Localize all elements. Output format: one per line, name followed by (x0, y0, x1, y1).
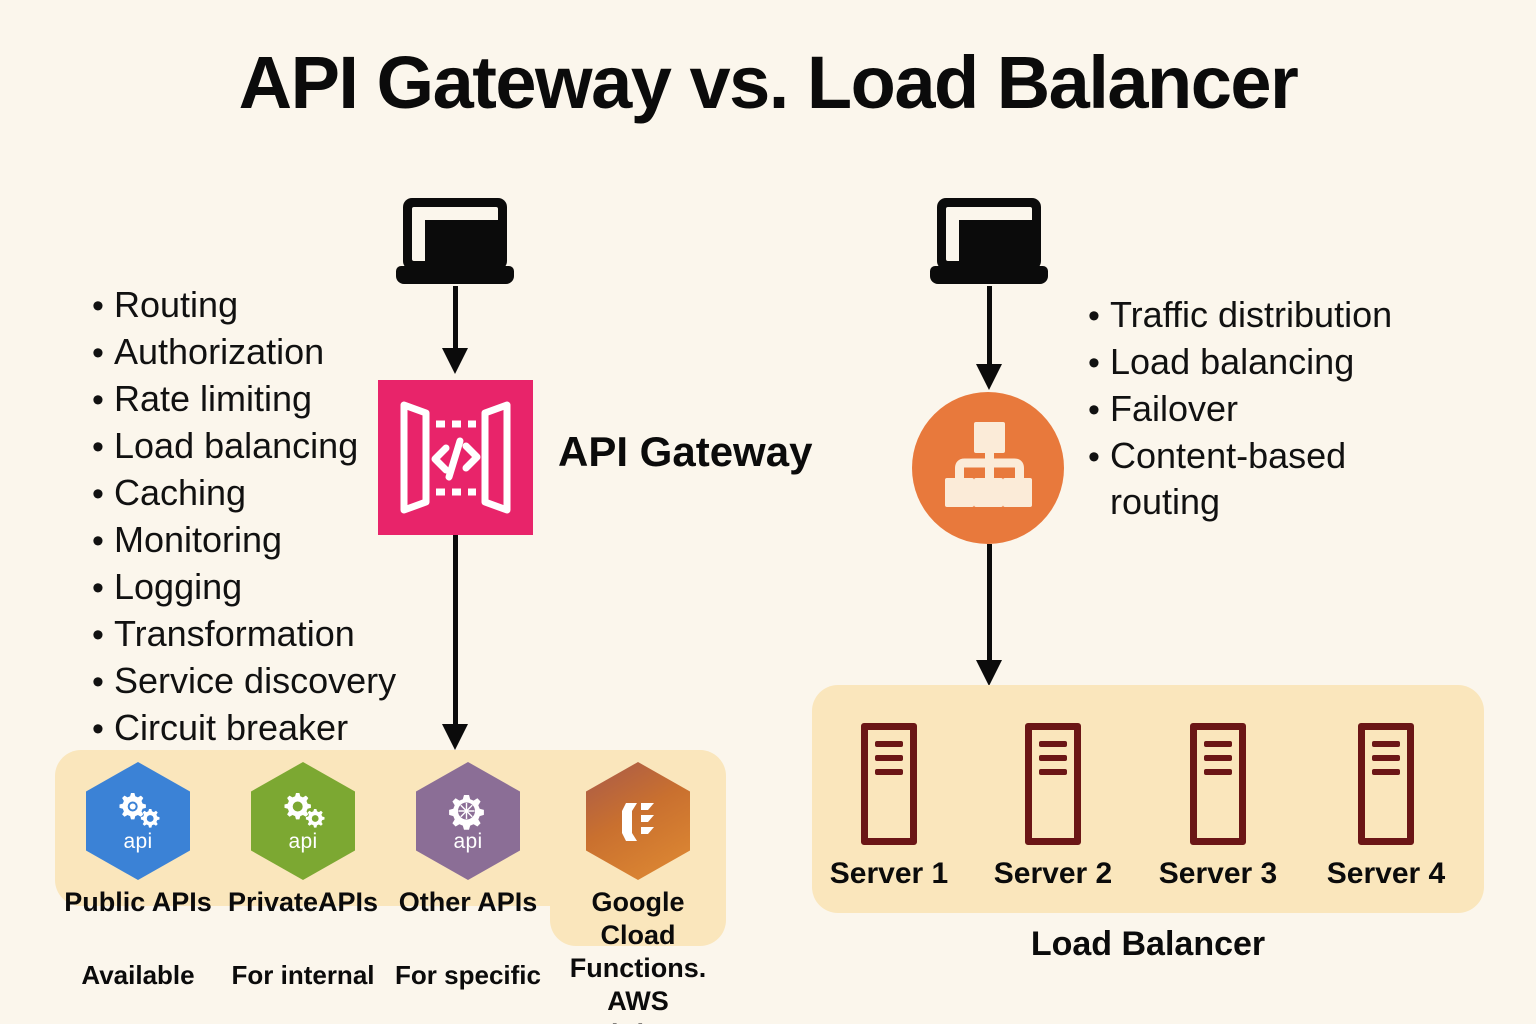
laptop-base (396, 266, 514, 284)
list-item: •Routing (92, 282, 402, 329)
laptop-base (930, 266, 1048, 284)
laptop-screen-glass (425, 220, 503, 266)
feature-label: Circuit breaker (114, 705, 348, 751)
server-label: Server 4 (1311, 857, 1461, 891)
list-item: •Caching (92, 470, 402, 517)
feature-label: Caching (114, 470, 246, 516)
bullet-dot: • (92, 565, 114, 611)
api-word: api (124, 832, 153, 852)
bullet-dot: • (1088, 293, 1110, 339)
gears-api-icon: api (416, 762, 520, 880)
server-icon (1190, 723, 1246, 845)
server-bar (1039, 741, 1067, 747)
list-item: •Load balancing (1088, 339, 1488, 386)
list-item: •Load balancing (92, 423, 402, 470)
server-bar (1204, 755, 1232, 761)
feature-label: Content-based routing (1110, 433, 1346, 525)
hexagon-shape: api (86, 762, 190, 880)
api-gateway-label: API Gateway (558, 428, 812, 476)
feature-label: Logging (114, 564, 242, 610)
gears-api-icon: api (251, 762, 355, 880)
server-bar (1204, 769, 1232, 775)
arrow-head (442, 348, 468, 374)
arrow-head (976, 660, 1002, 686)
feature-label: Traffic distribution (1110, 292, 1392, 338)
api-card-other[interactable]: api Other APIs For specific partners (385, 762, 551, 1024)
list-item: •Authorization (92, 329, 402, 376)
laptop-screen (937, 198, 1041, 270)
list-item: •Traffic distribution (1088, 292, 1488, 339)
api-card-title: Google Cload Functions. AWS Lambda, etc. (552, 886, 724, 1024)
arrow-shaft (453, 535, 458, 727)
server-bar (1204, 741, 1232, 747)
list-item: •Failover (1088, 386, 1488, 433)
feature-label: Transformation (114, 611, 355, 657)
api-card-title: Public APIs (55, 886, 221, 919)
bullet-dot: • (92, 283, 114, 329)
feature-label: Rate limiting (114, 376, 312, 422)
hexagon-shape: api (251, 762, 355, 880)
api-card-sub-bold: For internal (220, 959, 386, 991)
server-icon (861, 723, 917, 845)
laptop-screen-bezel (946, 207, 1032, 261)
api-card-subtitle: Available to everyone (55, 927, 221, 1024)
laptop-screen-glass (959, 220, 1037, 266)
bullet-dot: • (1088, 340, 1110, 386)
api-card-title: PrivateAPIs (220, 886, 386, 919)
api-card-title: Other APIs (385, 886, 551, 919)
api-card-sub-bold: Available (55, 959, 221, 991)
list-item: •Monitoring (92, 517, 402, 564)
server-bar (1372, 755, 1400, 761)
list-item: •Logging (92, 564, 402, 611)
diagram-canvas: API Gateway vs. Load Balancer •Routing •… (0, 0, 1536, 1024)
bullet-dot: • (92, 424, 114, 470)
server-bar (1039, 769, 1067, 775)
feature-label: Failover (1110, 386, 1238, 432)
bullet-dot: • (92, 377, 114, 423)
load-balancer-caption: Load Balancer (812, 925, 1484, 964)
feature-label: Monitoring (114, 517, 282, 563)
list-item: •Circuit breaker (92, 705, 402, 752)
arrow-shaft (453, 286, 458, 350)
server-card[interactable]: Server 4 (1311, 723, 1461, 891)
api-card-public[interactable]: api Public APIs Available to everyone (55, 762, 221, 1024)
api-word: api (454, 832, 483, 852)
bullet-dot: • (92, 330, 114, 376)
load-balancer-icon[interactable] (912, 392, 1064, 544)
server-bar (1372, 741, 1400, 747)
serverless-glyph (610, 795, 666, 847)
bullet-dot: • (92, 612, 114, 658)
bullet-dot: • (92, 659, 114, 705)
list-item: •Service discovery (92, 658, 402, 705)
gears-api-icon: api (86, 762, 190, 880)
arrow-gateway-to-apis (430, 535, 480, 750)
server-card[interactable]: Server 1 (814, 723, 964, 891)
server-bar (1039, 755, 1067, 761)
api-word: api (289, 832, 318, 852)
arrow-head (442, 724, 468, 750)
server-bar (1372, 769, 1400, 775)
server-card[interactable]: Server 3 (1143, 723, 1293, 891)
feature-label: Load balancing (114, 423, 358, 469)
feature-label: Service discovery (114, 658, 396, 704)
server-label: Server 1 (814, 857, 964, 891)
list-item: •Transformation (92, 611, 402, 658)
server-label: Server 3 (1143, 857, 1293, 891)
feature-label: Authorization (114, 329, 324, 375)
laptop-icon-left (396, 198, 514, 286)
gears-glyph (112, 791, 164, 831)
laptop-icon-right (930, 198, 1048, 286)
gears-glyph (446, 791, 490, 831)
load-balancer-feature-list: •Traffic distribution •Load balancing •F… (1088, 292, 1488, 525)
arrow-client-to-gateway (430, 286, 480, 374)
arrow-client-to-balancer (964, 286, 1014, 390)
server-bar (875, 755, 903, 761)
page-title: API Gateway vs. Load Balancer (0, 40, 1536, 125)
arrow-balancer-to-servers (964, 544, 1014, 686)
api-gateway-glyph (378, 380, 533, 535)
feature-label: Load balancing (1110, 339, 1354, 385)
server-icon (1025, 723, 1081, 845)
api-card-sub-bold: For specific (385, 959, 551, 991)
gears-glyph (277, 791, 329, 831)
serverless-logo-icon (586, 762, 690, 880)
hexagon-shape (586, 762, 690, 880)
api-card-subtitle: For internal usage only (220, 927, 386, 1024)
api-gateway-feature-list: •Routing •Authorization •Rate limiting •… (92, 282, 402, 752)
api-gateway-icon[interactable] (378, 380, 533, 535)
bullet-dot: • (92, 706, 114, 752)
arrow-shaft (987, 286, 992, 366)
load-balancer-glyph (912, 392, 1064, 544)
arrow-head (976, 364, 1002, 390)
api-card-private[interactable]: api PrivateAPIs For internal usage only (220, 762, 386, 1024)
list-item: •Rate limiting (92, 376, 402, 423)
arrow-shaft (987, 544, 992, 662)
hexagon-shape: api (416, 762, 520, 880)
bullet-dot: • (1088, 387, 1110, 433)
server-icon (1358, 723, 1414, 845)
server-bar (875, 769, 903, 775)
bullet-dot: • (92, 471, 114, 517)
server-card[interactable]: Server 2 (978, 723, 1128, 891)
server-bar (875, 741, 903, 747)
laptop-screen-bezel (412, 207, 498, 261)
api-card-subtitle: For specific partners (385, 927, 551, 1024)
list-item: •Content-based routing (1088, 433, 1488, 525)
bullet-dot: • (92, 518, 114, 564)
bullet-dot: • (1088, 434, 1110, 480)
api-card-serverless[interactable]: Google Cload Functions. AWS Lambda, etc. (552, 762, 724, 1024)
feature-label: Routing (114, 282, 238, 328)
laptop-screen (403, 198, 507, 270)
server-label: Server 2 (978, 857, 1128, 891)
